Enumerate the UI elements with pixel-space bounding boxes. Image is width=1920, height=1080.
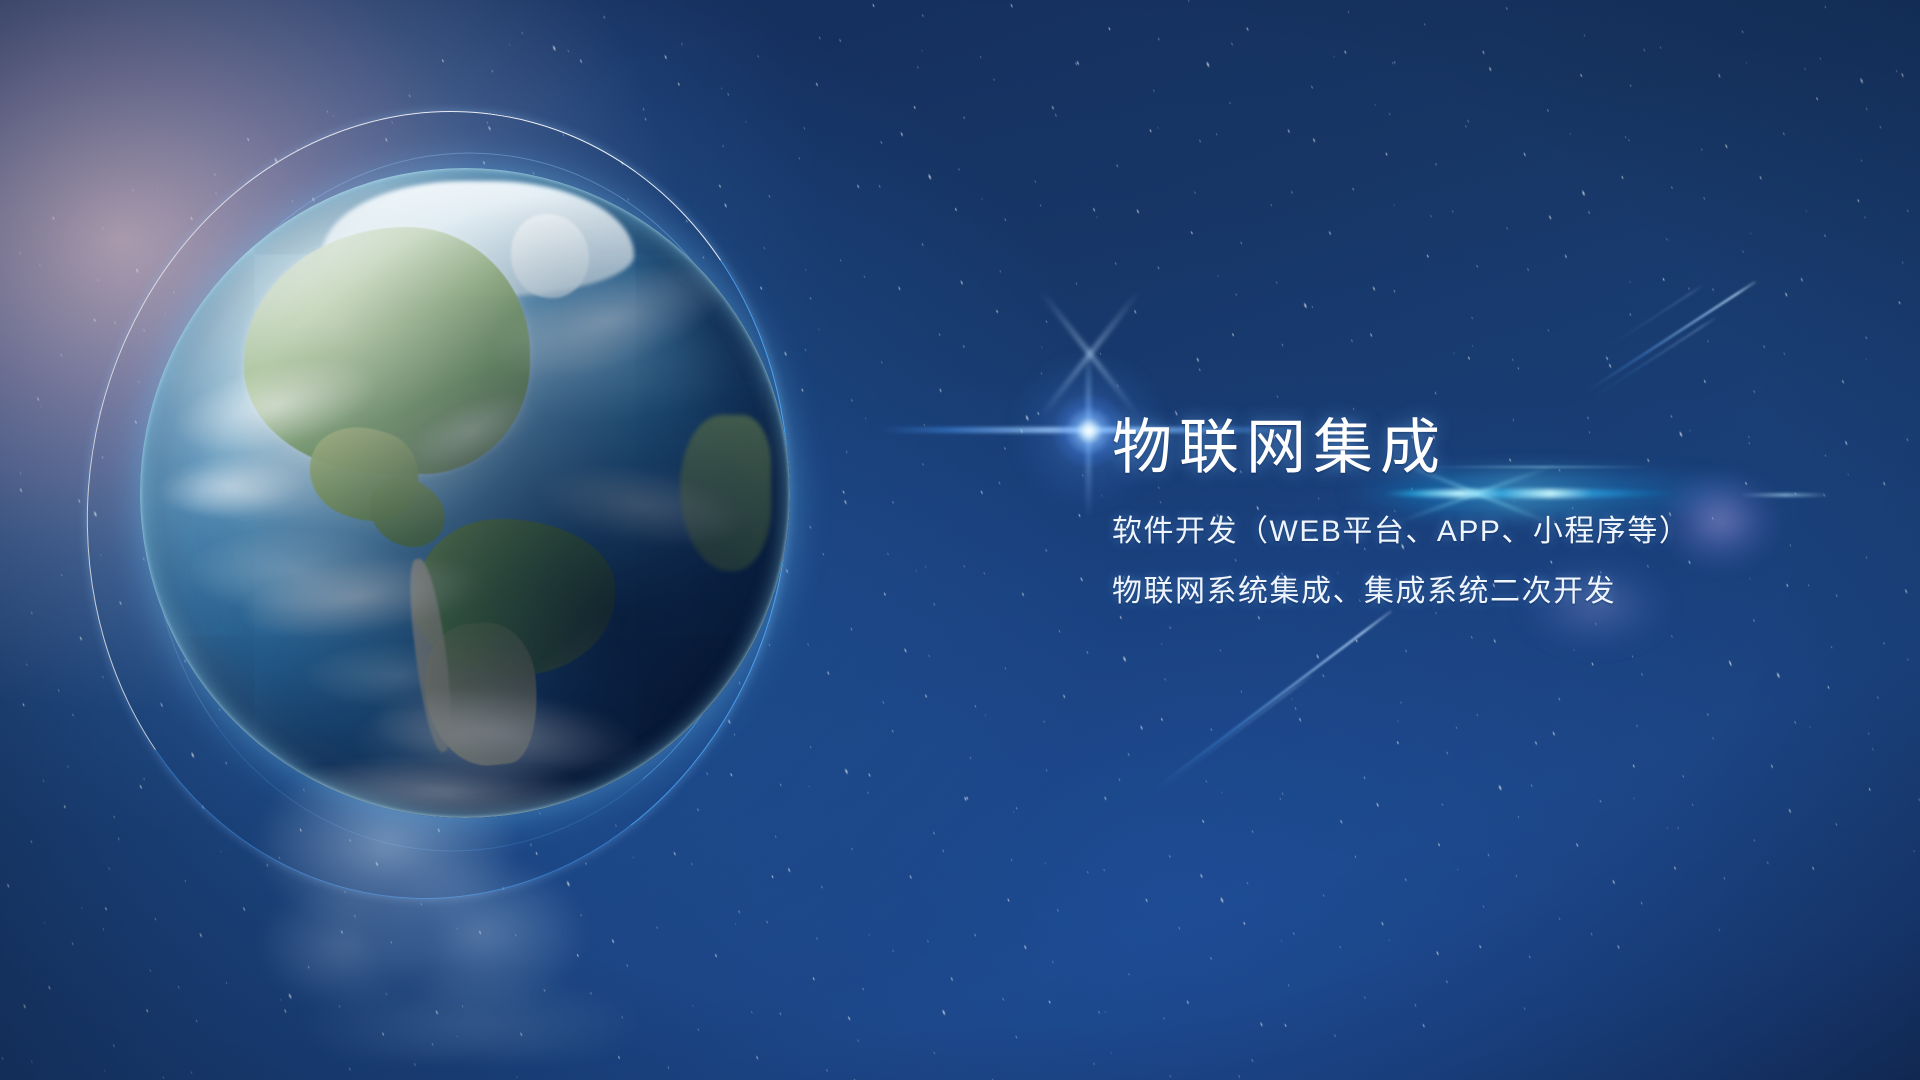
star-flare-vertical-ray — [1086, 340, 1091, 520]
banner-title: 物联网集成 — [1112, 414, 1872, 481]
banner-text-block: 物联网集成 软件开发（WEB平台、APP、小程序等） 物联网系统集成、集成系统二… — [1112, 414, 1872, 607]
globe-rim-light — [140, 168, 790, 818]
meteor-streak-5 — [1601, 285, 1702, 351]
meteor-streak-2 — [1590, 317, 1717, 400]
meteor-streak-3 — [1151, 610, 1392, 792]
earth-globe — [140, 168, 790, 818]
meteor-streak-4 — [1152, 675, 1313, 796]
globe-sphere — [140, 168, 790, 818]
meteor-streak-1 — [1587, 281, 1756, 392]
banner-subtitle-line-1: 软件开发（WEB平台、APP、小程序等） — [1112, 517, 1872, 547]
banner-subtitle-line-2: 物联网系统集成、集成系统二次开发 — [1112, 577, 1872, 607]
hero-banner: 物联网集成 软件开发（WEB平台、APP、小程序等） 物联网系统集成、集成系统二… — [0, 0, 1920, 1080]
